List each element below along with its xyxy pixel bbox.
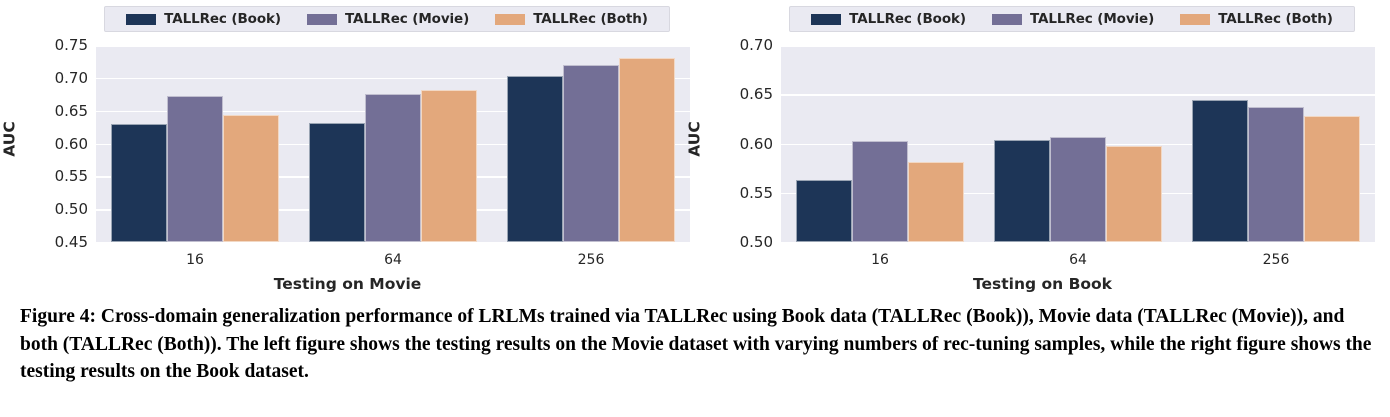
bar [111,124,167,242]
bar [852,141,908,242]
y-axis-label: AUC [1,121,19,156]
bar [994,140,1050,242]
legend-item[interactable]: TALLRec (Book) [811,11,966,27]
bar [908,162,964,242]
legend-label: TALLRec (Book) [849,11,966,27]
legend-swatch-icon [126,14,156,25]
bar [167,96,223,242]
bar [507,76,563,242]
gridline [781,45,1375,47]
bar [1192,100,1248,242]
legend-item[interactable]: TALLRec (Movie) [307,11,469,27]
bar [619,58,675,242]
legend-item[interactable]: TALLRec (Movie) [992,11,1154,27]
y-axis-tick-label: 0.65 [0,102,88,120]
legend-label: TALLRec (Movie) [345,11,469,27]
chart-panel-testing-on-book: TALLRec (Book)TALLRec (Movie)TALLRec (Bo… [695,0,1390,292]
bar [796,180,852,242]
x-axis-label: Testing on Book [695,275,1390,293]
x-axis-tick-label: 64 [1069,252,1087,268]
bar [309,123,365,242]
bar [1050,137,1106,242]
y-axis-tick-label: 0.45 [0,233,88,251]
bar [1304,116,1360,242]
gridline [781,94,1375,96]
bar [421,90,477,242]
y-axis-tick-label: 0.70 [0,69,88,87]
y-axis-tick-label: 0.65 [695,85,773,103]
y-axis-tick-label: 0.75 [0,36,88,54]
legend-swatch-icon [307,14,337,25]
legend-item[interactable]: TALLRec (Both) [1180,11,1333,27]
figure-caption: Figure 4: Cross-domain generalization pe… [20,303,1375,386]
x-axis-tick-label: 64 [384,252,402,268]
legend-label: TALLRec (Both) [1218,11,1333,27]
bar [1248,107,1304,242]
y-axis-tick-label: 0.55 [695,184,773,202]
legend-swatch-icon [495,14,525,25]
legend-item[interactable]: TALLRec (Both) [495,11,648,27]
x-axis-tick-label: 16 [186,252,204,268]
chart-legend: TALLRec (Book)TALLRec (Movie)TALLRec (Bo… [789,6,1355,32]
y-axis-tick-label: 0.50 [0,200,88,218]
legend-swatch-icon [811,14,841,25]
charts-row: TALLRec (Book)TALLRec (Movie)TALLRec (Bo… [0,0,1390,292]
chart-panel-testing-on-movie: TALLRec (Book)TALLRec (Movie)TALLRec (Bo… [0,0,695,292]
gridline [96,45,690,47]
plot-area [96,45,690,242]
bar [223,115,279,242]
chart-legend: TALLRec (Book)TALLRec (Movie)TALLRec (Bo… [104,6,670,32]
x-axis-tick-label: 16 [871,252,889,268]
legend-label: TALLRec (Both) [533,11,648,27]
figure-4: TALLRec (Book)TALLRec (Movie)TALLRec (Bo… [0,0,1390,417]
legend-swatch-icon [992,14,1022,25]
y-axis-tick-label: 0.60 [695,135,773,153]
legend-label: TALLRec (Movie) [1030,11,1154,27]
legend-item[interactable]: TALLRec (Book) [126,11,281,27]
x-axis-tick-label: 256 [578,252,605,268]
x-axis-tick-label: 256 [1263,252,1290,268]
bar [563,65,619,242]
y-axis-label: AUC [686,121,704,156]
bar [365,94,421,242]
plot-area [781,45,1375,242]
bar [1106,146,1162,242]
legend-label: TALLRec (Book) [164,11,281,27]
y-axis-tick-label: 0.55 [0,167,88,185]
legend-swatch-icon [1180,14,1210,25]
x-axis-label: Testing on Movie [0,275,695,293]
y-axis-tick-label: 0.50 [695,233,773,251]
y-axis-tick-label: 0.70 [695,36,773,54]
